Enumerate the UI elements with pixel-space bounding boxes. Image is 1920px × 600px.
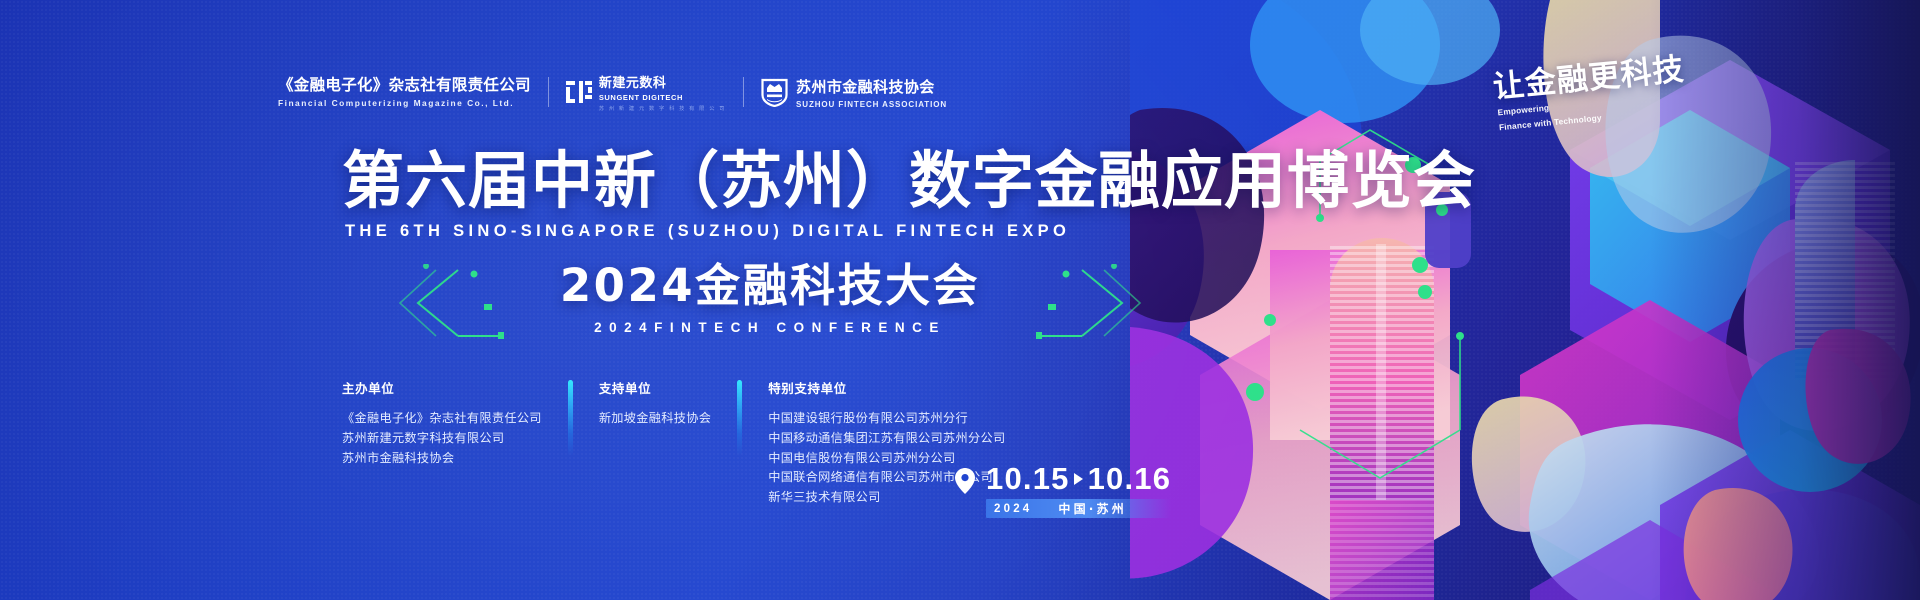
- shield-icon: [761, 77, 788, 107]
- organizer-item: 新加坡金融科技协会: [599, 409, 711, 429]
- sungent-mark-icon: [566, 79, 592, 105]
- banner-content: 《金融电子化》杂志社有限责任公司 Financial Computerizing…: [0, 0, 1180, 600]
- organizer-group-support: 支持单位 新加坡金融科技协会: [599, 378, 711, 429]
- column-divider: [737, 380, 742, 456]
- page-subtitle: THE 6TH SINO-SINGAPORE (SUZHOU) DIGITAL …: [345, 222, 1155, 241]
- organizer-heading: 支持单位: [599, 378, 711, 397]
- event-city: 中国·苏州: [1058, 500, 1127, 517]
- logo-sfa-cn: 苏州市金融科技协会: [796, 76, 947, 97]
- organizers-section: 主办单位 《金融电子化》杂志社有限责任公司 苏州新建元数字科技有限公司 苏州市金…: [342, 378, 1005, 508]
- organizer-item: 苏州市金融科技协会: [342, 449, 542, 469]
- organizer-heading: 主办单位: [342, 378, 542, 397]
- logo-suzhou-fintech-association: 苏州市金融科技协会 SUZHOU FINTECH ASSOCIATION: [761, 76, 947, 109]
- event-year-city-bar: 2024 中国·苏州: [986, 499, 1171, 518]
- organizer-item: 苏州新建元数字科技有限公司: [342, 429, 542, 449]
- logo-sungent-fullname: 苏 州 新 建 元 数 字 科 技 有 限 公 司: [599, 105, 726, 112]
- organizer-heading: 特别支持单位: [768, 378, 1005, 397]
- partner-logo-row: 《金融电子化》杂志社有限责任公司 Financial Computerizing…: [278, 72, 947, 112]
- event-date-location: 10.15 10.16 2024 中国·苏州: [955, 463, 1171, 518]
- organizer-item: 《金融电子化》杂志社有限责任公司: [342, 409, 542, 429]
- page-title: 第六届中新（苏州）数字金融应用博览会: [342, 150, 1152, 212]
- logo-sungent-cn: 新建元数科: [599, 72, 726, 91]
- location-pin-icon: [955, 468, 975, 494]
- organizer-group-host: 主办单位 《金融电子化》杂志社有限责任公司 苏州新建元数字科技有限公司 苏州市金…: [342, 378, 542, 468]
- logo-sungent-en: SUNGENT DIGITECH: [599, 93, 726, 102]
- logo-financial-computerizing: 《金融电子化》杂志社有限责任公司 Financial Computerizing…: [278, 76, 531, 108]
- expo-banner: 让金融更科技 Empowering Finance with Technolog…: [0, 0, 1920, 600]
- logo-financial-computerizing-cn: 《金融电子化》杂志社有限责任公司: [278, 76, 531, 95]
- organizer-item: 中国建设银行股份有限公司苏州分行: [768, 409, 1005, 429]
- chevron-bracket-right-icon: [1036, 264, 1144, 342]
- logo-sungent-digitech: 新建元数科 SUNGENT DIGITECH 苏 州 新 建 元 数 字 科 技…: [566, 72, 726, 112]
- event-date: 10.15 10.16: [986, 463, 1171, 494]
- conference-title-cn: 2024金融科技大会: [400, 262, 1140, 309]
- event-year: 2024: [994, 503, 1032, 515]
- logo-divider: [548, 77, 549, 107]
- logo-sfa-en: SUZHOU FINTECH ASSOCIATION: [796, 100, 947, 109]
- logo-financial-computerizing-en: Financial Computerizing Magazine Co., Lt…: [278, 98, 531, 108]
- conference-band: 2024金融科技大会 2024FINTECH CONFERENCE: [400, 262, 1140, 347]
- conference-title-en: 2024FINTECH CONFERENCE: [400, 320, 1140, 335]
- arrow-right-icon: [1074, 473, 1083, 485]
- column-divider: [568, 380, 573, 456]
- date-start: 10.15: [986, 463, 1070, 494]
- organizer-item: 中国移动通信集团江苏有限公司苏州分公司: [768, 429, 1005, 449]
- date-end: 10.16: [1088, 463, 1172, 494]
- logo-divider: [743, 77, 744, 107]
